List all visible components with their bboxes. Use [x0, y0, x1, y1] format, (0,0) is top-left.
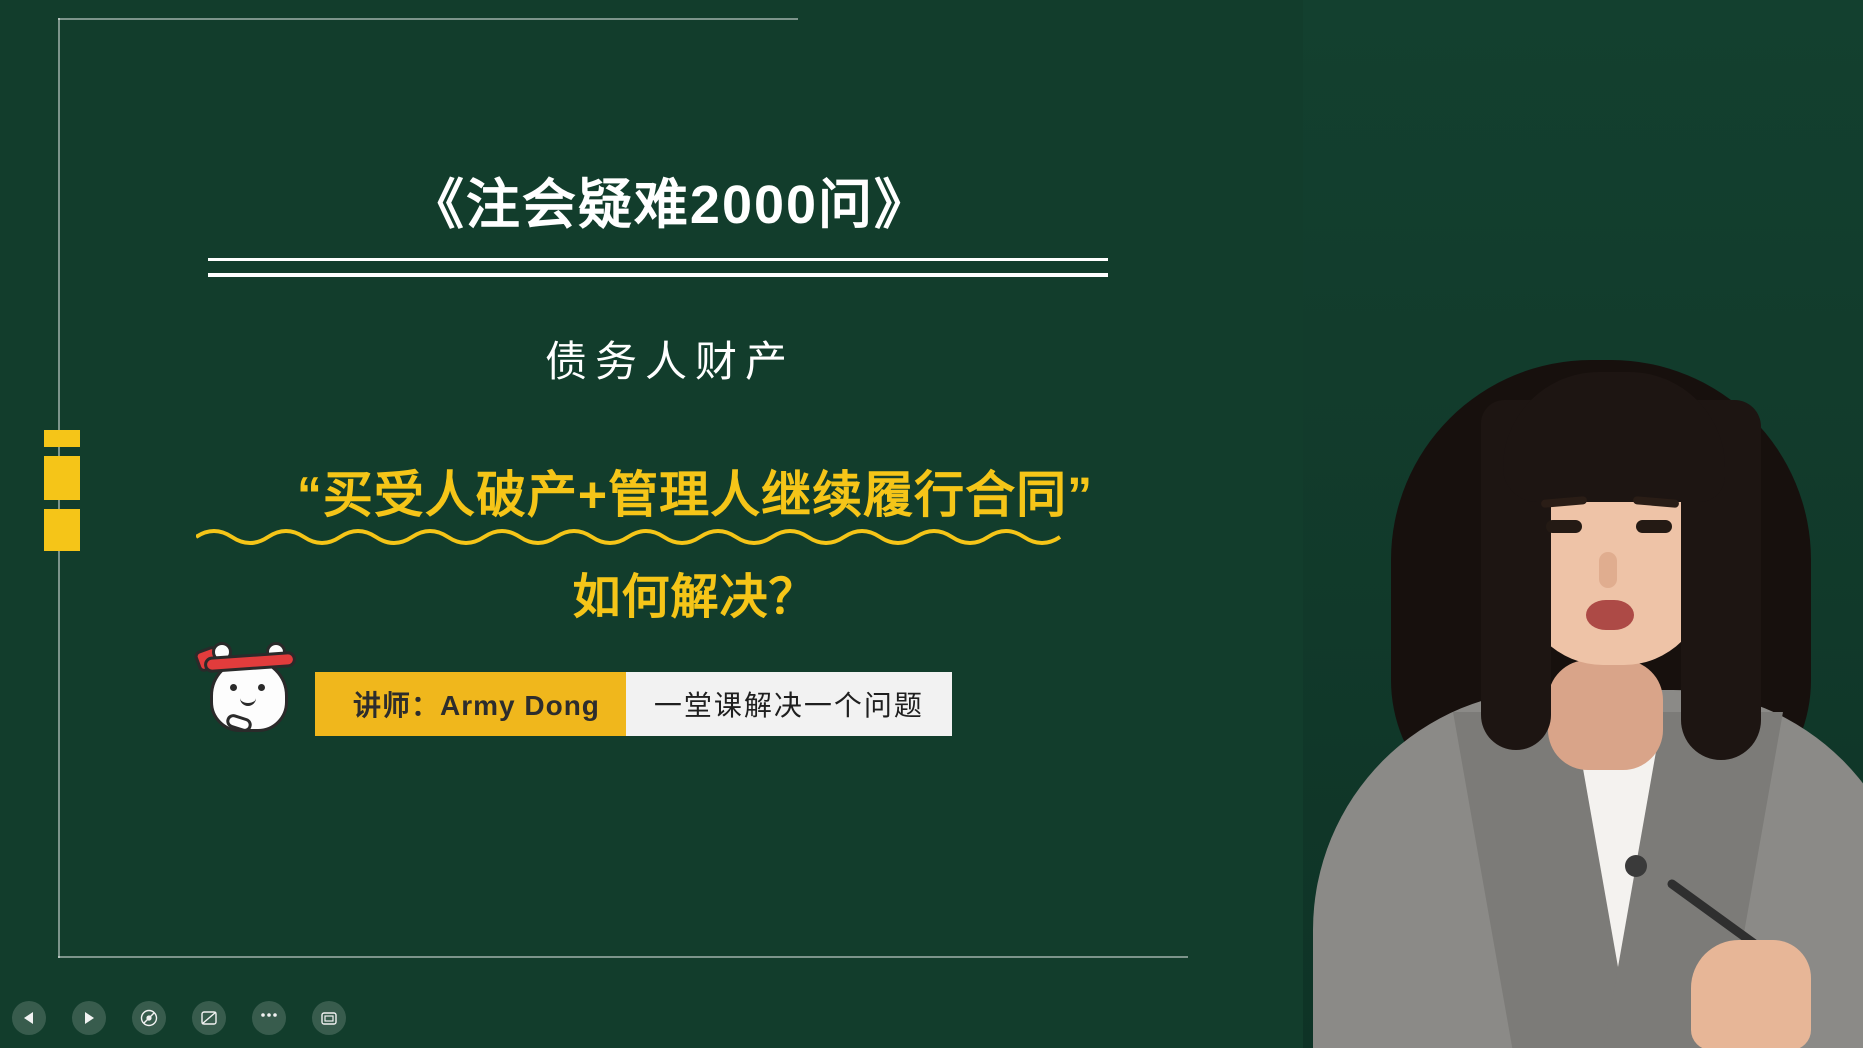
screenshot-button[interactable] — [312, 1001, 346, 1035]
play-icon — [82, 1011, 96, 1025]
slide-main-title: 《注会疑难2000问》 — [0, 160, 1340, 239]
underline-squiggle — [196, 523, 1196, 549]
previous-icon — [22, 1011, 36, 1025]
more-dots-icon — [260, 1012, 278, 1018]
brightness-icon — [140, 1009, 158, 1027]
brightness-button[interactable] — [132, 1001, 166, 1035]
question-line-2: 如何解决？ — [0, 557, 1390, 627]
player-controls — [0, 988, 1863, 1048]
previous-button[interactable] — [12, 1001, 46, 1035]
question-line-1: “买受人破产+管理人继续履行合同” — [297, 467, 1093, 523]
frame-line-top — [58, 18, 798, 20]
title-divider — [208, 258, 1108, 277]
cow-mascot — [196, 628, 304, 740]
lecturer-name: 讲师：Army Dong — [315, 672, 626, 736]
lecturer-tagline: 一堂课解决一个问题 — [626, 672, 952, 736]
speed-button[interactable] — [192, 1001, 226, 1035]
frame-line-bottom — [58, 956, 1188, 958]
instructor-video — [1303, 0, 1863, 1048]
video-player-stage: 《注会疑难2000问》 债务人财产 “买受人破产+管理人继续履行合同” 如何解决… — [0, 0, 1863, 1048]
slide-subtitle: 债务人财产 — [0, 328, 1340, 389]
more-button[interactable] — [252, 1001, 286, 1035]
screenshot-icon — [320, 1009, 338, 1027]
lecturer-bar: 讲师：Army Dong 一堂课解决一个问题 — [315, 672, 952, 736]
speed-icon — [200, 1009, 218, 1027]
play-button[interactable] — [72, 1001, 106, 1035]
